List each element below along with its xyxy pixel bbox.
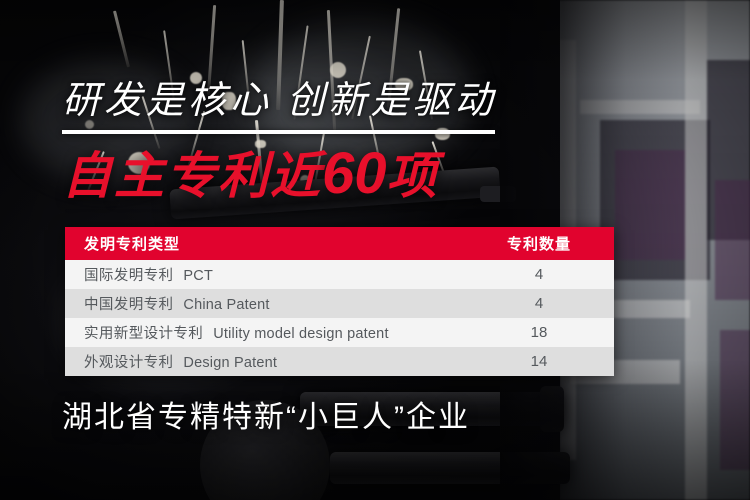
- patent-type-en: PCT: [183, 268, 213, 284]
- headline-divider-rule: [62, 130, 495, 134]
- column-header-type: 发明专利类型: [65, 233, 464, 254]
- patent-type-cn: 外观设计专利: [84, 355, 173, 371]
- cell-patent-type: 外观设计专利Design Patent: [65, 351, 464, 372]
- cell-patent-type: 中国发明专利China Patent: [65, 293, 464, 314]
- patent-type-en: Design Patent: [183, 355, 277, 371]
- table-header-row: 发明专利类型 专利数量: [65, 227, 614, 260]
- cell-patent-type: 国际发明专利PCT: [65, 264, 464, 285]
- patent-type-en: China Patent: [183, 297, 269, 313]
- banner-caption: 湖北省专精特新“小巨人”企业: [62, 398, 470, 438]
- patent-type-en: Utility model design patent: [213, 326, 388, 342]
- table-row: 中国发明专利China Patent 4: [65, 289, 614, 318]
- patent-banner: 研发是核心 创新是驱动 自主专利近60项 发明专利类型 专利数量 国际发明专利P…: [0, 0, 750, 500]
- headline-secondary-prefix: 自主专利近: [62, 148, 322, 204]
- cell-patent-count: 4: [464, 266, 614, 283]
- cell-patent-count: 4: [464, 295, 614, 312]
- banner-content: 研发是核心 创新是驱动 自主专利近60项 发明专利类型 专利数量 国际发明专利P…: [0, 0, 750, 500]
- patent-type-cn: 中国发明专利: [84, 297, 173, 313]
- column-header-count: 专利数量: [464, 233, 614, 254]
- cell-patent-count: 14: [464, 353, 614, 370]
- table-row: 实用新型设计专利Utility model design patent 18: [65, 318, 614, 347]
- patent-table: 发明专利类型 专利数量 国际发明专利PCT 4 中国发明专利China Pate…: [65, 227, 614, 376]
- headline-primary: 研发是核心 创新是驱动: [62, 79, 497, 123]
- headline-secondary: 自主专利近60项: [62, 145, 439, 205]
- patent-type-cn: 实用新型设计专利: [84, 326, 203, 342]
- patent-count-number: 60: [322, 141, 387, 206]
- table-row: 外观设计专利Design Patent 14: [65, 347, 614, 376]
- patent-type-cn: 国际发明专利: [84, 268, 173, 284]
- cell-patent-count: 18: [464, 324, 614, 341]
- headline-secondary-suffix: 项: [387, 148, 439, 204]
- table-row: 国际发明专利PCT 4: [65, 260, 614, 289]
- cell-patent-type: 实用新型设计专利Utility model design patent: [65, 322, 464, 343]
